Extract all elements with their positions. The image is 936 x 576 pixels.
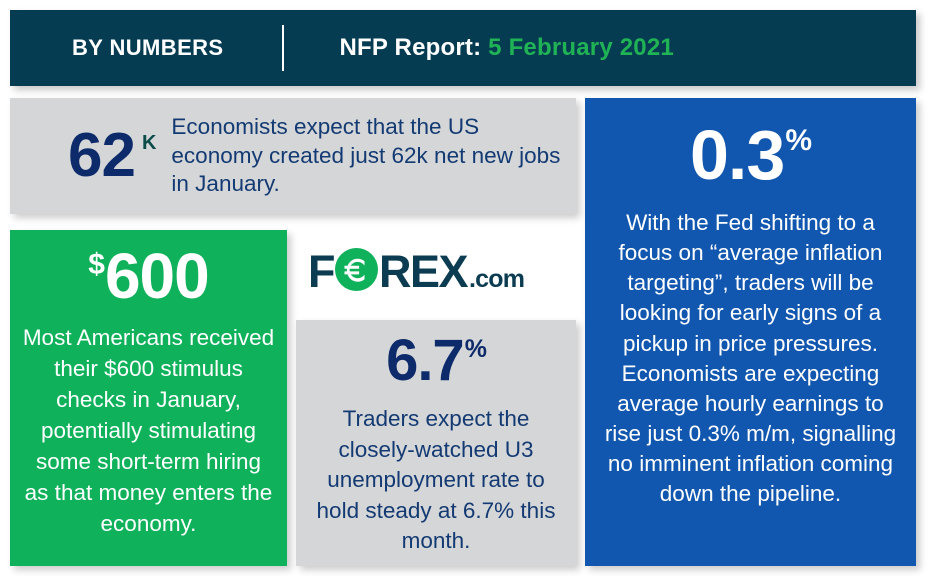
stat-body-unemployment: Traders expect the closely-watched U3 un… [308,404,564,557]
header-title-word-numbers: NUMBERS [109,35,223,60]
forex-dotcom: .com [469,267,524,292]
stat-number-unemployment: 6.7 [386,332,464,390]
header-report-line: NFP Report: 5 February 2021 [340,34,674,62]
forex-letter-f: F [308,249,334,294]
forex-wordmark: F REX .com [308,244,524,294]
stat-value-earnings: 0.3 % [690,120,811,190]
header-divider [282,25,284,71]
stat-body-earnings: With the Fed shifting to a focus on “ave… [601,208,900,509]
stat-body-stimulus: Most Americans received their $600 stimu… [22,322,275,539]
header-report-date: 5 February 2021 [488,34,674,61]
stat-card-unemployment: 6.7 % Traders expect the closely-watched… [296,320,576,566]
stat-unit-earnings: % [785,126,811,156]
header-report-label: NFP Report: [340,34,489,61]
header-title-by-numbers: BY NUMBERS [72,35,224,61]
stat-card-stimulus: $ 600 Most Americans received their $600… [10,230,287,566]
forex-logo: F REX .com [308,243,570,295]
stat-unit-unemployment: % [465,337,486,362]
euro-circle-icon [335,248,378,291]
forex-letters-rex: REX [379,249,467,294]
stat-card-jobs: 62 K Economists expect that the US econo… [10,98,576,214]
stat-card-earnings: 0.3 % With the Fed shifting to a focus o… [585,98,916,566]
stat-unit-jobs: K [142,133,155,153]
stat-value-stimulus: $ 600 [88,244,208,308]
stat-number-jobs: 62 [68,125,135,187]
currency-symbol-icon: $ [88,250,104,280]
stat-number-stimulus: 600 [105,244,209,308]
infographic-root: BY NUMBERS NFP Report: 5 February 2021 6… [0,0,936,576]
stat-value-unemployment: 6.7 % [386,332,486,390]
header-bar: BY NUMBERS NFP Report: 5 February 2021 [10,10,916,86]
stat-value-jobs: 62 K [28,125,155,187]
stat-number-earnings: 0.3 [690,120,784,190]
header-title-word-by: BY [72,35,109,60]
stat-body-jobs: Economists expect that the US economy cr… [171,113,562,199]
